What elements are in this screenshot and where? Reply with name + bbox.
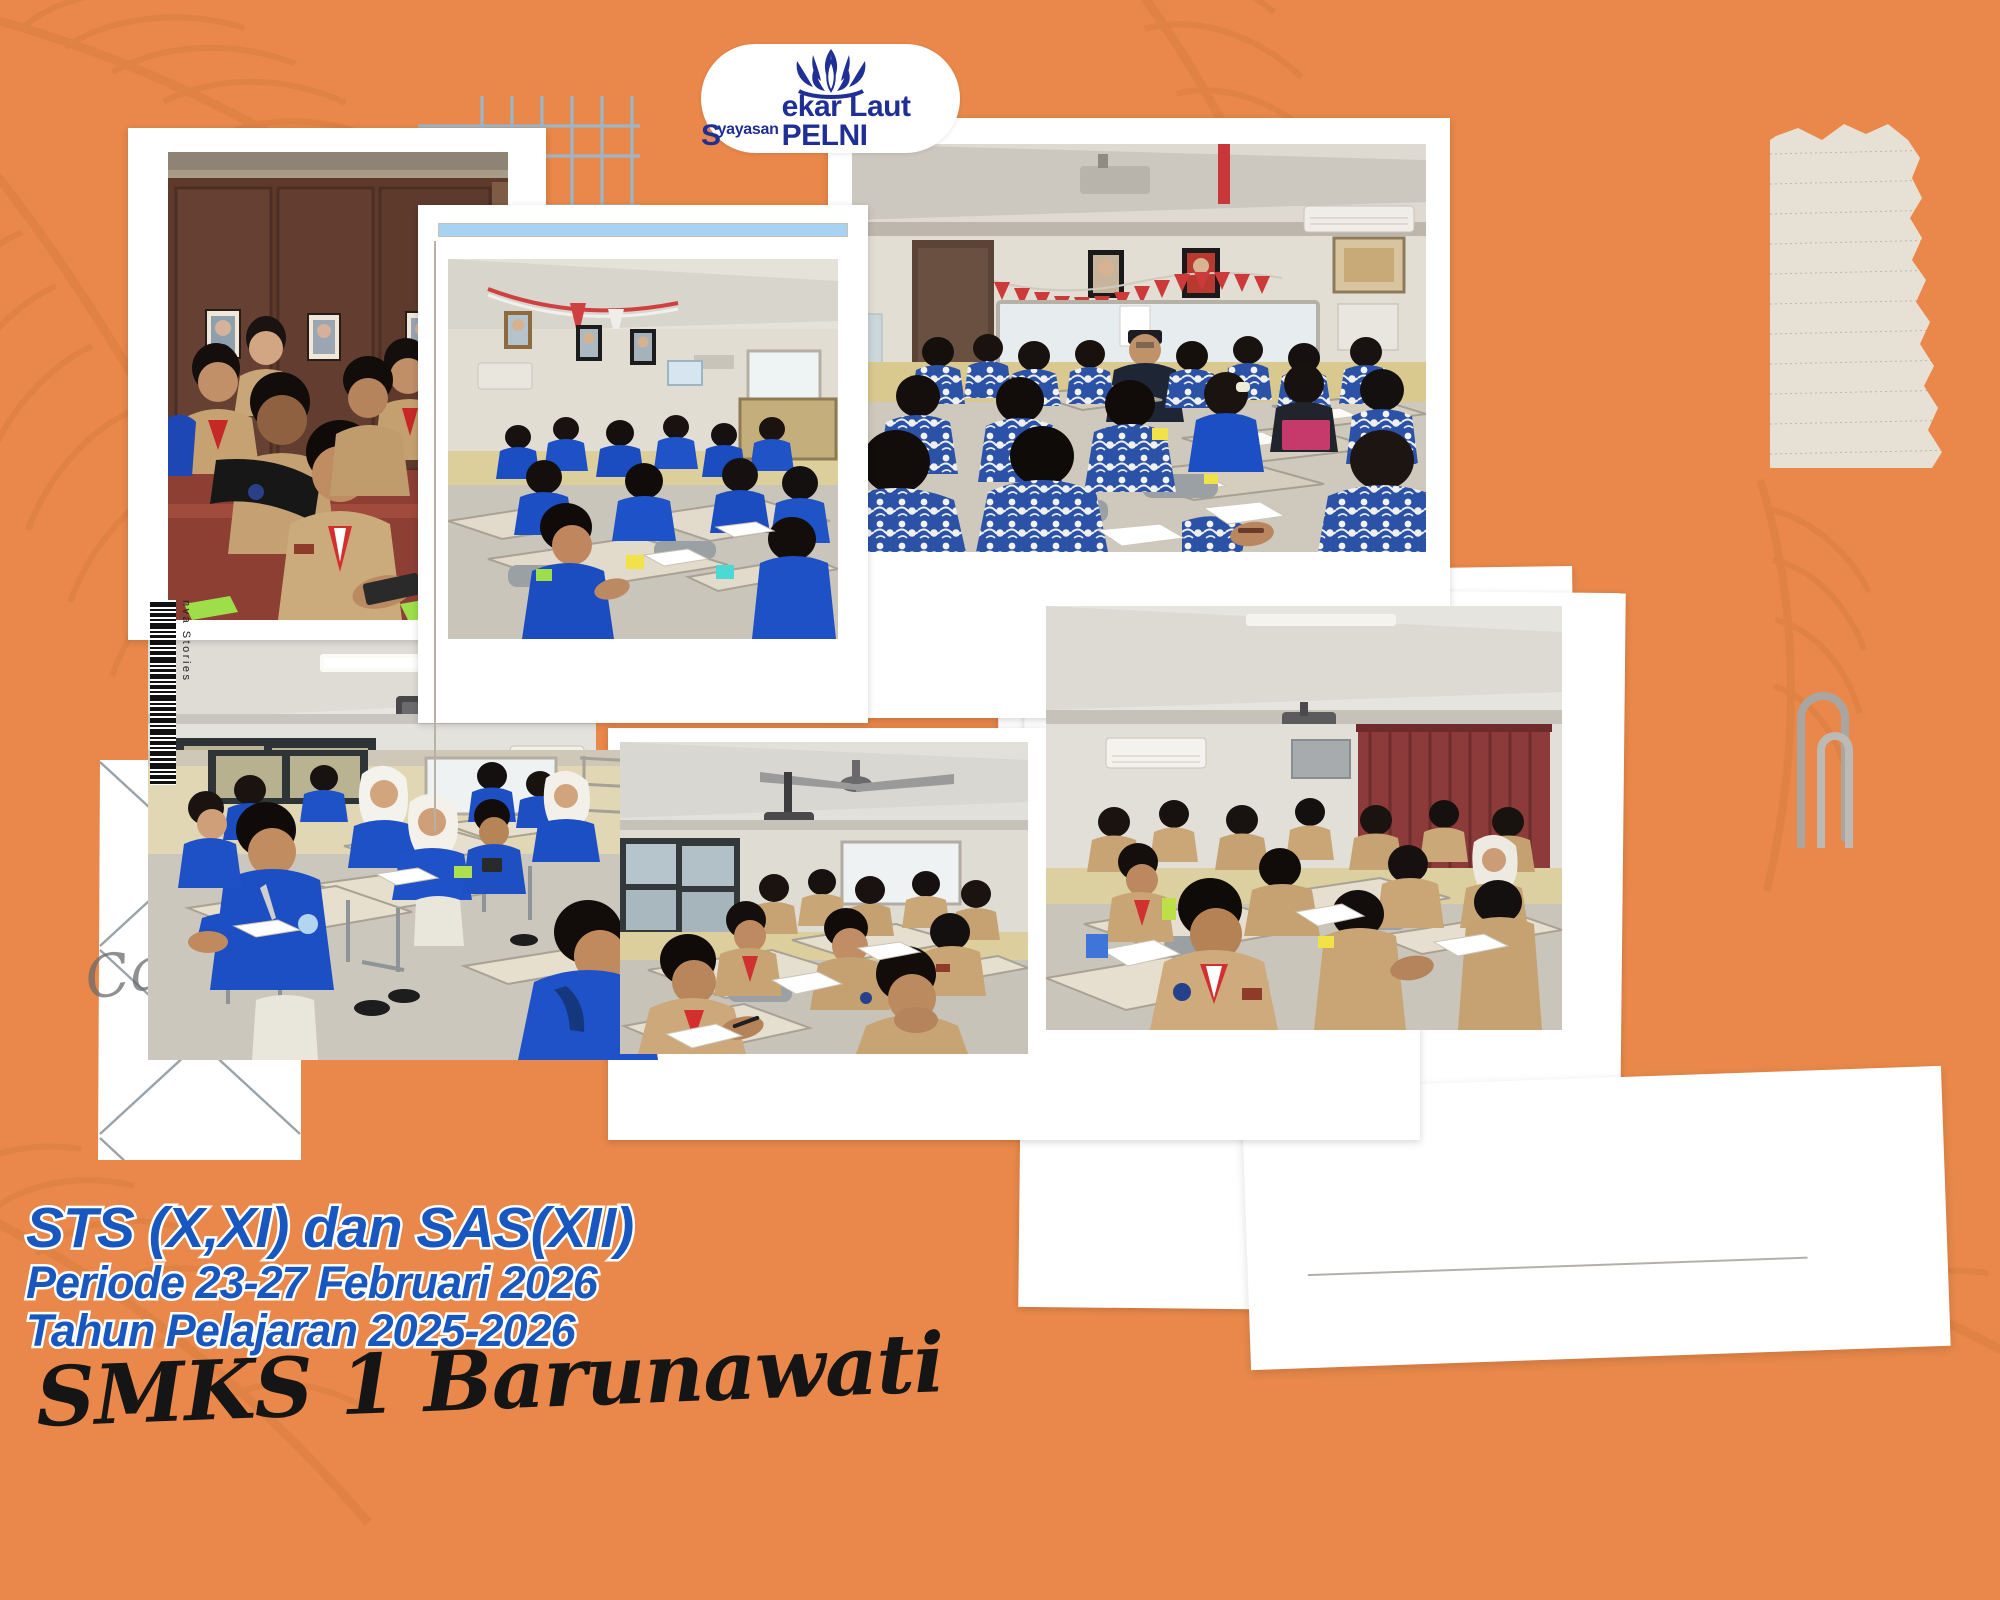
- title-line-2: Periode 23-27 Februari 2026: [26, 1259, 633, 1307]
- barcode-bars-icon: [150, 600, 176, 785]
- torn-paper-decor: [1770, 28, 2000, 468]
- photo-batik-classroom: Based: [852, 144, 1426, 552]
- paperclip-icon: [1765, 678, 1885, 848]
- photo-scouts-curtain-room: [1046, 606, 1562, 1030]
- photo-classroom-blue-rows: [448, 259, 838, 639]
- barcode-label: nva Stories: [180, 600, 192, 683]
- photo-blue-jackets-hijab: [148, 750, 658, 1060]
- polaroid-edge-line: [434, 241, 436, 831]
- logo-superscript: yayasan: [718, 122, 779, 137]
- photo-frame-classroom-blue-rows: [418, 205, 868, 723]
- polaroid-caption-line: [1308, 1257, 1808, 1276]
- logo-name: ekar Laut PELNI: [782, 93, 960, 150]
- photo-scouts-exam: [620, 742, 1028, 1054]
- title-line-1: STS (X,XI) dan SAS(XII): [26, 1198, 633, 1259]
- barcode-decor: nva Stories: [150, 600, 210, 785]
- logo-badge: S yayasan ekar Laut PELNI: [701, 44, 960, 153]
- polaroid-blue-strip: [438, 223, 848, 237]
- logo-wordmark: S yayasan ekar Laut PELNI: [701, 93, 960, 150]
